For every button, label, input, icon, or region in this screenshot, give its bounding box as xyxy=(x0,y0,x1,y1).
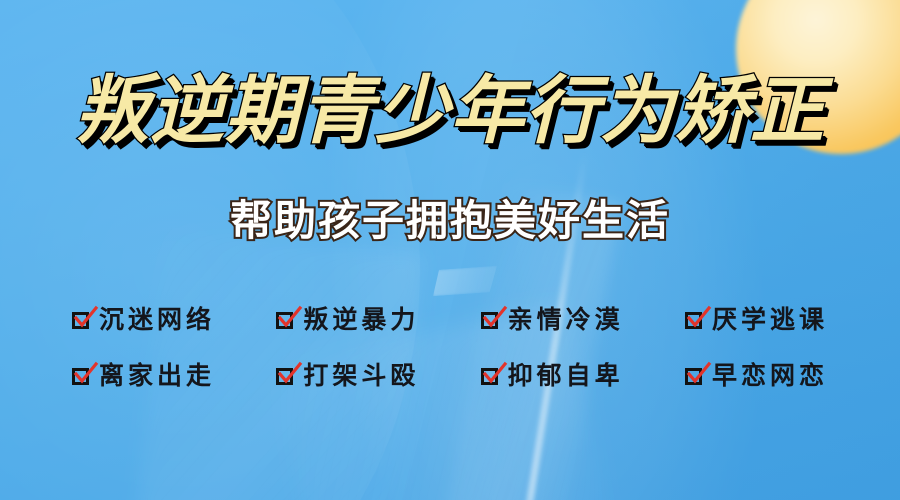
checkbox-checked-icon[interactable] xyxy=(481,310,502,331)
checkbox-checked-icon[interactable] xyxy=(276,366,297,387)
checkbox-checked-icon[interactable] xyxy=(72,366,93,387)
page-title: 叛逆期青少年行为矫正 xyxy=(0,74,900,148)
checkbox-checked-icon[interactable] xyxy=(72,310,93,331)
list-item[interactable]: 早恋网恋 xyxy=(685,364,828,389)
list-item[interactable]: 叛逆暴力 xyxy=(276,308,419,333)
checkmark-icon xyxy=(277,307,301,329)
list-item-label: 打架斗殴 xyxy=(303,364,419,389)
checkmark-icon xyxy=(73,363,97,385)
checkbox-checked-icon[interactable] xyxy=(276,310,297,331)
list-item-label: 亲情冷漠 xyxy=(508,308,624,333)
checklist-row: 离家出走 打架斗殴 抑郁自卑 xyxy=(72,348,828,404)
list-item[interactable]: 沉迷网络 xyxy=(72,308,215,333)
checkmark-icon xyxy=(482,307,506,329)
symptom-checklist: 沉迷网络 叛逆暴力 亲情冷漠 xyxy=(72,292,828,404)
checkmark-icon xyxy=(73,307,97,329)
list-item-label: 叛逆暴力 xyxy=(303,308,419,333)
list-item-label: 离家出走 xyxy=(99,364,215,389)
list-item-label: 厌学逃课 xyxy=(712,308,828,333)
list-item-label: 抑郁自卑 xyxy=(508,364,624,389)
list-item-label: 沉迷网络 xyxy=(99,308,215,333)
checkbox-checked-icon[interactable] xyxy=(685,366,706,387)
checklist-row: 沉迷网络 叛逆暴力 亲情冷漠 xyxy=(72,292,828,348)
list-item[interactable]: 打架斗殴 xyxy=(276,364,419,389)
checkmark-icon xyxy=(686,363,710,385)
checkbox-checked-icon[interactable] xyxy=(685,310,706,331)
promo-banner: 叛逆期青少年行为矫正 帮助孩子拥抱美好生活 沉迷网络 xyxy=(0,0,900,500)
checkbox-checked-icon[interactable] xyxy=(481,366,502,387)
checkmark-icon xyxy=(482,363,506,385)
page-subtitle: 帮助孩子拥抱美好生活 xyxy=(0,200,900,242)
list-item[interactable]: 离家出走 xyxy=(72,364,215,389)
list-item[interactable]: 抑郁自卑 xyxy=(481,364,624,389)
checkmark-icon xyxy=(277,363,301,385)
checkmark-icon xyxy=(686,307,710,329)
list-item[interactable]: 厌学逃课 xyxy=(685,308,828,333)
list-item[interactable]: 亲情冷漠 xyxy=(481,308,624,333)
list-item-label: 早恋网恋 xyxy=(712,364,828,389)
